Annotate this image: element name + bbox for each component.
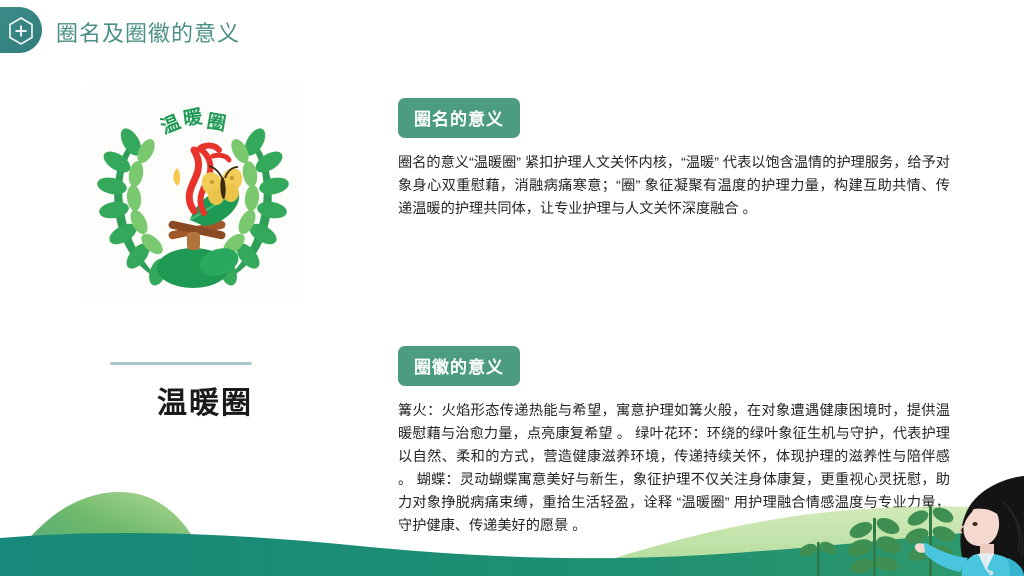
section-circle-name-meaning: 圈名的意义 圈名的意义“温暖圈” 紧扣护理人文关怀内核，“温暖” 代表以饱含温情…	[398, 98, 950, 221]
section-body-emblem: 篝火：火焰形态传递热能与希望，寓意护理如篝火般，在对象遭遇健康困境时，提供温暖慰…	[398, 400, 950, 538]
slide-header: 圈名及圈徽的意义	[0, 0, 1024, 62]
brand-name: 温暖圈	[110, 378, 300, 422]
svg-text:暖: 暖	[182, 105, 205, 130]
logo-artwork: 温 暖 圈	[86, 86, 300, 300]
brand-divider	[110, 362, 252, 365]
slide-root: 圈名及圈徽的意义 温 暖 圈	[0, 0, 1024, 576]
page-title: 圈名及圈徽的意义	[56, 16, 240, 48]
hexagon-plus-icon	[8, 17, 34, 45]
hill-left	[0, 492, 212, 576]
section-emblem-meaning: 圈徽的意义 篝火：火焰形态传递热能与希望，寓意护理如篝火般，在对象遭遇健康困境时…	[398, 346, 950, 538]
section-badge-emblem: 圈徽的意义	[398, 346, 520, 386]
section-badge-circle-name: 圈名的意义	[398, 98, 520, 138]
section-body-circle-name: 圈名的意义“温暖圈” 紧扣护理人文关怀内核，“温暖” 代表以饱含温情的护理服务，…	[398, 152, 950, 221]
circle-logo-image: 温 暖 圈	[86, 86, 300, 300]
svg-text:圈: 圈	[205, 110, 228, 135]
